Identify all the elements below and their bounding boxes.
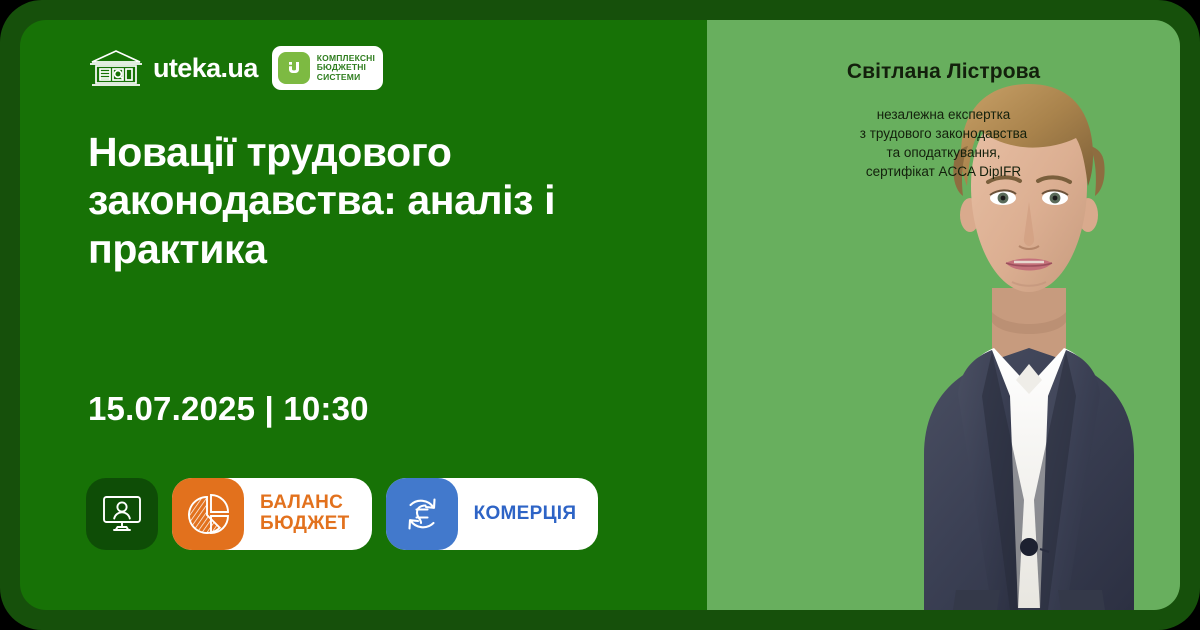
bank-building-icon: [88, 47, 144, 89]
hryvnia-refresh-icon: [386, 478, 458, 550]
product-pill-row: БАЛАНС БЮДЖЕТ: [86, 478, 598, 550]
speaker-name: Світлана Лістрова: [707, 60, 1180, 84]
partner-badge-text: КОМПЛЕКСНІ БЮДЖЕТНІ СИСТЕМИ: [317, 54, 375, 83]
kbs-monogram-icon: [278, 52, 310, 84]
uteka-wordmark: uteka.ua: [153, 53, 258, 84]
logo-row: uteka.ua КОМПЛЕКСНІ БЮДЖЕТНІ СИСТЕМИ: [88, 46, 383, 90]
webinar-monitor-icon: [101, 494, 143, 534]
right-panel: Світлана Лістрова незалежна експертка з …: [707, 20, 1180, 610]
uteka-logo[interactable]: uteka.ua: [88, 47, 258, 89]
webinar-promo-banner: uteka.ua КОМПЛЕКСНІ БЮДЖЕТНІ СИСТЕМИ: [0, 0, 1200, 630]
product-pill-balans-budzhet[interactable]: БАЛАНС БЮДЖЕТ: [172, 478, 372, 550]
banner-inner: uteka.ua КОМПЛЕКСНІ БЮДЖЕТНІ СИСТЕМИ: [20, 20, 1180, 610]
product-pill-label-komertsiya: КОМЕРЦІЯ: [474, 504, 577, 525]
partner-badge-line3: СИСТЕМИ: [317, 73, 375, 83]
pie-chart-icon: [172, 478, 244, 550]
partner-badge-kbs[interactable]: КОМПЛЕКСНІ БЮДЖЕТНІ СИСТЕМИ: [272, 46, 383, 90]
product-webinar-icon-button[interactable]: [86, 478, 158, 550]
left-panel: uteka.ua КОМПЛЕКСНІ БЮДЖЕТНІ СИСТЕМИ: [20, 20, 707, 610]
product-pill-komertsiya[interactable]: КОМЕРЦІЯ: [386, 478, 599, 550]
speaker-description: незалежна експертка з трудового законода…: [707, 105, 1180, 182]
webinar-datetime: 15.07.2025 | 10:30: [88, 390, 369, 428]
webinar-title: Новації трудового законодавства: аналіз …: [88, 128, 648, 273]
product-pill-label-balans-budzhet: БАЛАНС БЮДЖЕТ: [260, 493, 350, 535]
